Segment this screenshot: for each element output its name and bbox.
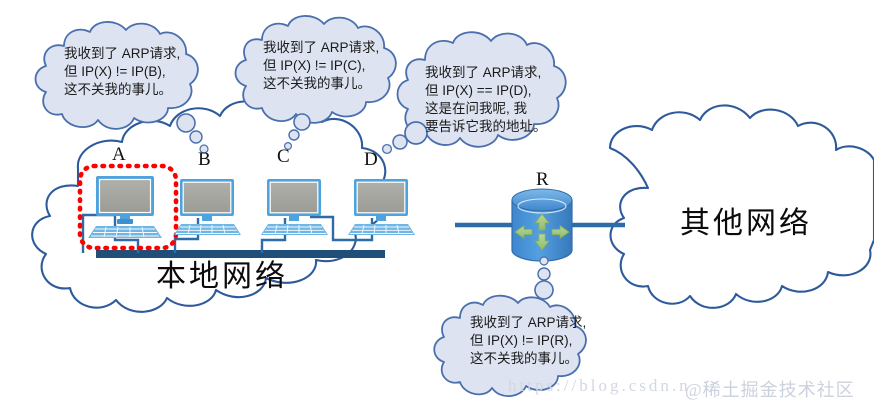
cloud-label-other-networks: 其他网络 — [680, 208, 812, 240]
computer-c[interactable] — [261, 179, 328, 235]
router-device[interactable] — [512, 189, 572, 261]
thought-bubble-r-text: 我收到了 ARP请求, 但 IP(X) != IP(R), 这不关我的事儿。 — [470, 314, 586, 368]
cloud-label-local-network: 本地网络 — [156, 261, 288, 293]
host-label-b: B — [198, 150, 211, 169]
computer-a[interactable] — [88, 176, 162, 238]
host-label-c: C — [277, 147, 290, 166]
computer-d[interactable] — [348, 179, 415, 235]
watermark-url: https://blog.csdn.n — [508, 376, 691, 396]
host-label-d: D — [364, 150, 378, 169]
thought-trail-r — [535, 257, 553, 299]
thought-bubble-b-text: 我收到了 ARP请求, 但 IP(X) != IP(B), 这不关我的事儿。 — [64, 45, 180, 99]
computer-b[interactable] — [174, 179, 241, 235]
host-label-a: A — [112, 145, 126, 164]
thought-bubble-c-text: 我收到了 ARP请求, 但 IP(X) != IP(C), 这不关我的事儿。 — [263, 39, 379, 93]
router-label-r: R — [536, 170, 549, 189]
local-bus-bar — [96, 250, 385, 258]
thought-trail-d — [383, 122, 427, 153]
thought-bubble-d-text: 我收到了 ARP请求, 但 IP(X) == IP(D), 这是在问我呢, 我 … — [425, 64, 547, 136]
watermark-brand: @稀土掘金技术社区 — [685, 376, 855, 402]
